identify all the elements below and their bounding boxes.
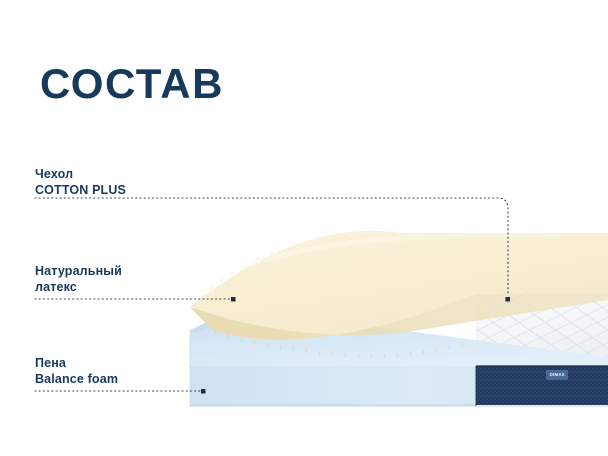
brand-tag: DIMAX xyxy=(546,370,568,380)
callout-latex-line2: латекс xyxy=(35,280,122,296)
callout-cover-line1: Чехол xyxy=(35,167,73,181)
brand-tag-label: DIMAX xyxy=(549,373,564,377)
leader-line-foam xyxy=(35,389,206,394)
composition-infographic: СОСТАВ xyxy=(0,0,608,456)
callout-latex-line1: Натуральный xyxy=(35,264,122,278)
callout-foam: Пена Balance foam xyxy=(35,356,118,387)
callout-foam-line1: Пена xyxy=(35,356,66,370)
callout-latex: Натуральный латекс xyxy=(35,264,122,295)
callout-cover: Чехол COTTON PLUS xyxy=(35,167,126,198)
cover-side-band xyxy=(476,366,608,406)
callout-foam-line2: Balance foam xyxy=(35,372,118,388)
mattress-illustration xyxy=(0,0,608,456)
callout-cover-line2: COTTON PLUS xyxy=(35,183,126,199)
